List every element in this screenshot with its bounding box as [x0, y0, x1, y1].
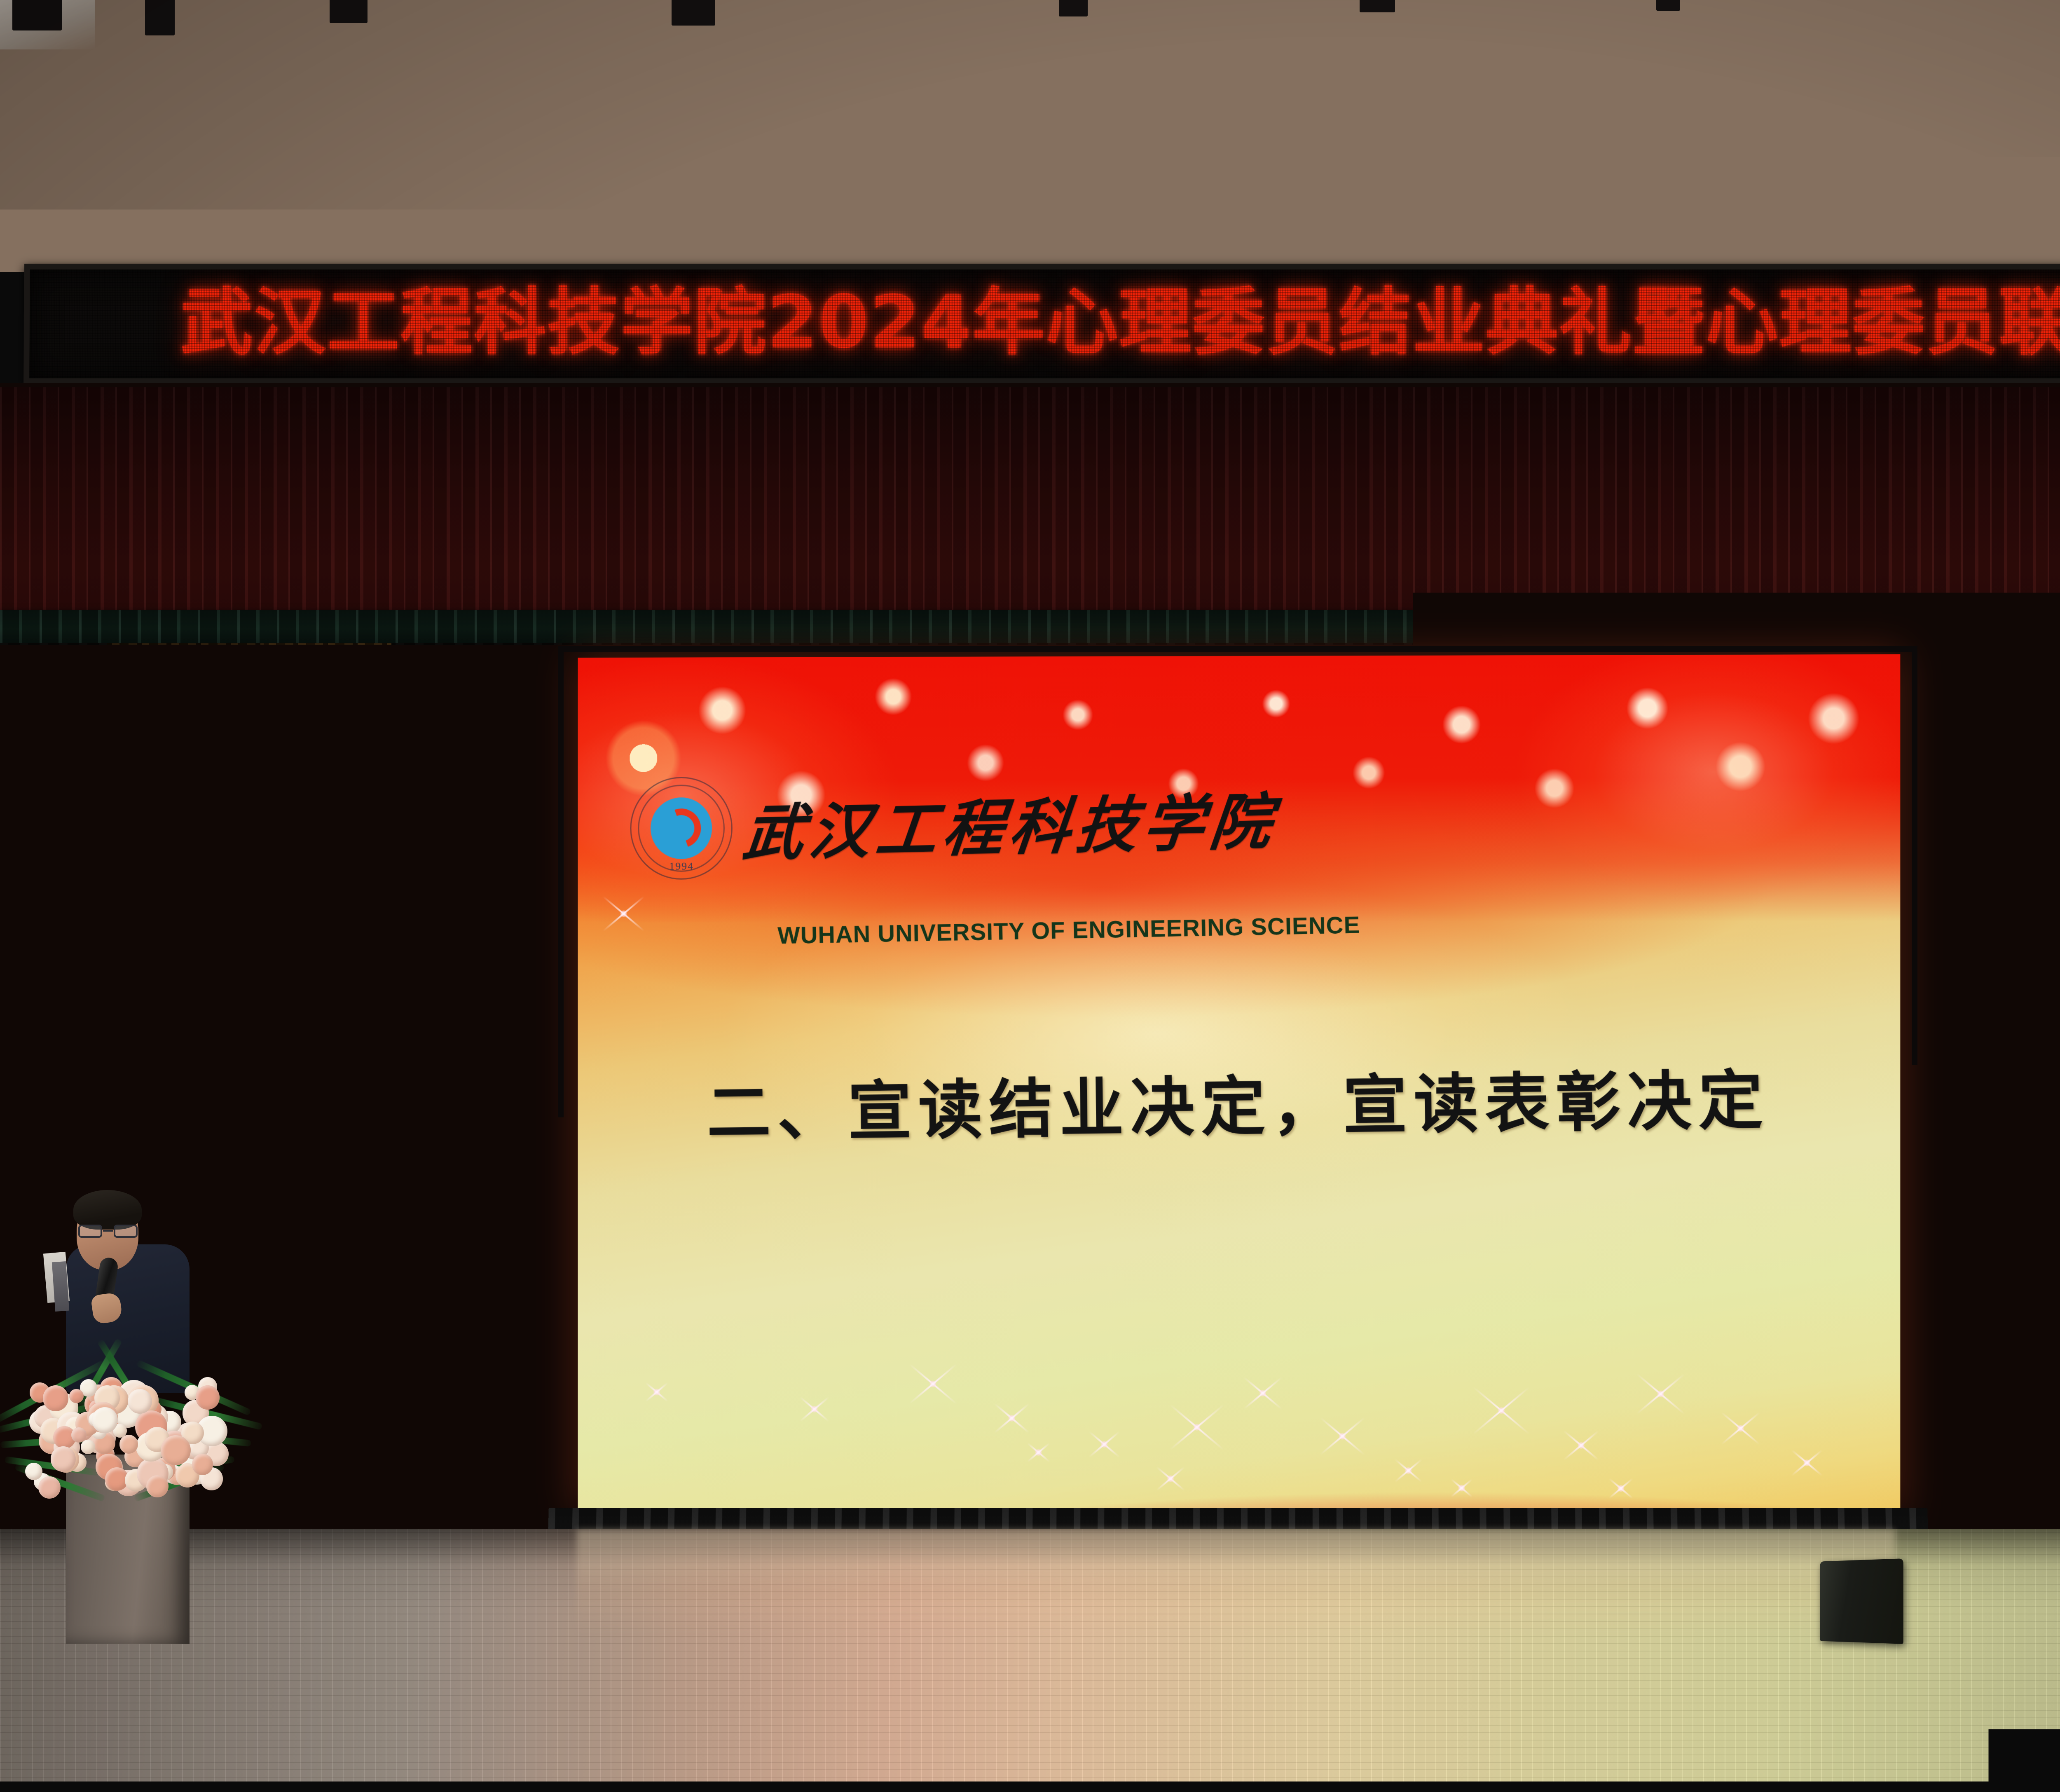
audience-seat [945, 1722, 1102, 1792]
sparkle-star [1162, 1392, 1232, 1462]
stage-valance-trim [0, 610, 2060, 648]
sparkle-star [989, 1396, 1035, 1441]
sparkle-star [1465, 1374, 1538, 1447]
sparkle-star [1024, 1438, 1053, 1467]
audience-seat [1115, 1722, 1272, 1792]
audience-seat [1454, 1728, 1611, 1792]
led-banner-text: 武汉工程科技学院2024年心理委员结业典礼暨心理委员联合会揭牌仪式 [29, 286, 2060, 361]
emblem-year: 1994 [632, 860, 731, 873]
flower-bloom [43, 1385, 69, 1411]
sparkle-star [1716, 1403, 1765, 1453]
ceiling-light-fixture [330, 0, 368, 23]
slide-agenda-text: 二、宣读结业决定，宣读表彰决定 [578, 1046, 1900, 1155]
glasses-bridge [103, 1230, 113, 1232]
curtain-hem-left-inner [264, 1455, 391, 1541]
glasses-lens-left [78, 1225, 102, 1238]
glasses-lens-right [114, 1225, 138, 1238]
flower-bloom [69, 1389, 84, 1403]
sparkle-core [1405, 1467, 1412, 1474]
sparkle-star [1558, 1422, 1604, 1468]
sparkle-core [653, 1389, 660, 1395]
sparkle-core [1578, 1442, 1584, 1448]
flower-bloom [71, 1427, 87, 1443]
audience-seat [1629, 1724, 1786, 1792]
audience-seat [597, 1729, 753, 1792]
sparkle-core [1339, 1433, 1346, 1439]
sparkle-core [1009, 1415, 1015, 1422]
speaker-hair [73, 1190, 142, 1230]
sparkle-star [1606, 1473, 1636, 1504]
sparkle-star [902, 1353, 963, 1415]
curtain-hem-right [1913, 1455, 2060, 1541]
podium-flower-arrangement [0, 1327, 251, 1500]
sparkle-core [1458, 1485, 1465, 1491]
seated-audience [0, 1549, 2060, 1792]
flower-bloom [38, 1476, 61, 1499]
audience-seat [419, 1730, 576, 1792]
university-name-chinese: 武汉工程科技学院 [740, 792, 1280, 864]
ceiling-wall [0, 0, 2060, 272]
sparkle-core [811, 1406, 818, 1413]
flower-bloom [119, 1435, 138, 1453]
audience-seat [1282, 1730, 1439, 1792]
university-emblem-icon: 1994 [630, 777, 733, 880]
sparkle-star [1448, 1474, 1475, 1502]
flower-bloom [128, 1389, 152, 1414]
ceiling-light-fixture [1059, 0, 1088, 16]
sparkle-core [1259, 1390, 1266, 1396]
sparkle-core [1498, 1408, 1505, 1414]
led-banner: 武汉工程科技学院2024年心理委员结业典礼暨心理委员联合会揭牌仪式 [23, 264, 2060, 384]
ceiling-light-fixture [1656, 0, 1680, 11]
sparkle-core [1035, 1449, 1042, 1456]
sparkle-core [1657, 1391, 1664, 1397]
flower-bloom [146, 1475, 169, 1497]
auditorium-scene: 武汉工程科技学院2024年心理委员结业典礼暨心理委员联合会揭牌仪式 1994 武… [0, 0, 2060, 1792]
stage-curtain-right [1913, 643, 2060, 1541]
ceiling-light-fixture [12, 0, 62, 30]
sparkle-star [1787, 1443, 1827, 1483]
stage-curtain-left-inner [264, 643, 391, 1541]
flower-bloom [81, 1440, 95, 1454]
flower-bloom [192, 1454, 213, 1475]
sparkle-star [642, 1377, 671, 1406]
flower-bloom [92, 1407, 118, 1433]
slide-surface: 1994 武汉工程科技学院 WUHAN UNIVERSITY OF ENGINE… [578, 654, 1900, 1515]
sparkle-core [1194, 1424, 1200, 1431]
sparkle-core [1737, 1425, 1744, 1431]
ceiling-light-fixture [1360, 0, 1395, 12]
stage-valance-curtain [0, 387, 2060, 643]
audience-seat [0, 1724, 62, 1792]
audience-seat [80, 1726, 236, 1792]
sparkle-star [1391, 1453, 1426, 1488]
sparkle-core [1167, 1475, 1174, 1482]
sparkle-star [796, 1390, 833, 1428]
ceiling-light-fixture [672, 0, 715, 26]
flower-bloom [196, 1385, 220, 1409]
sparkle-star [1084, 1424, 1124, 1464]
audience-seat [1971, 1726, 2060, 1792]
sparkle-star [1152, 1460, 1189, 1497]
flower-bloom [25, 1463, 42, 1480]
speaker-glasses-icon [77, 1225, 138, 1239]
sparkle-core [1804, 1459, 1810, 1466]
sparkle-core [929, 1381, 936, 1387]
audience-seat [250, 1728, 406, 1792]
audience-seat [1802, 1724, 1958, 1792]
sparkle-star [1313, 1407, 1371, 1465]
flower-bloom [161, 1435, 191, 1465]
sparkle-core [1101, 1441, 1107, 1448]
slide-logo-block: 1994 武汉工程科技学院 [630, 741, 1581, 914]
sparkle-core [1618, 1485, 1624, 1492]
sparkle-star [1629, 1363, 1692, 1425]
ceiling-light-fixture [145, 0, 175, 35]
flower-bloom [51, 1446, 76, 1471]
presentation-screen: 1994 武汉工程科技学院 WUHAN UNIVERSITY OF ENGINE… [578, 654, 1900, 1515]
sparkle-star [1238, 1368, 1287, 1418]
audience-seat [766, 1729, 922, 1792]
